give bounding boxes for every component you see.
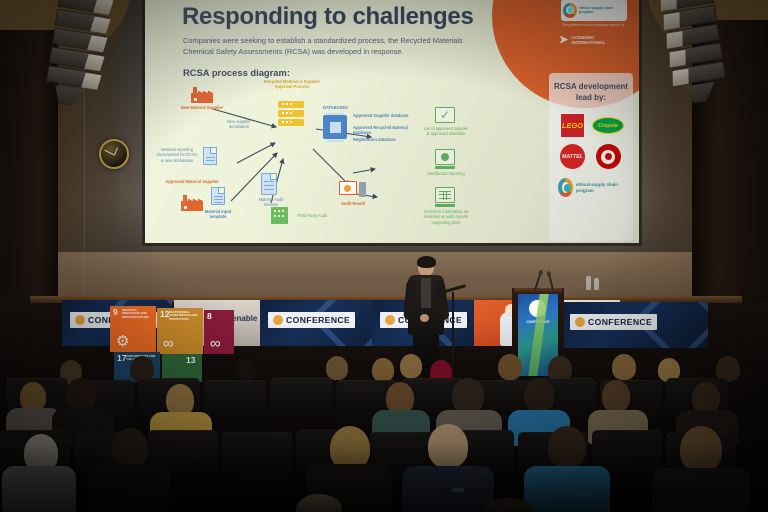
podium-banner-text: CONFERENCE xyxy=(521,320,555,324)
chevron-right-icon: ➤ xyxy=(559,35,570,46)
water-bottle xyxy=(594,278,599,290)
conference-mark-icon xyxy=(273,315,283,325)
sdg-block: 9 INDUSTRY, INNOVATION AND INFRASTRUCTUR… xyxy=(110,306,156,352)
audience-seat xyxy=(204,380,266,422)
conference-photo: ethical supply chain program The preferr… xyxy=(0,0,768,512)
document-icon xyxy=(203,147,217,165)
audience-shoulders xyxy=(2,466,76,512)
conference-banner: CONFERENCE xyxy=(562,302,708,348)
database-item: Approved Supplier database xyxy=(353,113,413,118)
podium-logo-icon xyxy=(529,300,546,317)
database-item: Approved Recycled Material database xyxy=(353,125,413,136)
conference-tag: CONFERENCE xyxy=(570,314,657,330)
audience-shoulders xyxy=(402,466,494,512)
sdg-block: 12 RESPONSIBLE CONSUMPTION AND PRODUCTIO… xyxy=(157,308,203,354)
esc-ring-icon xyxy=(558,178,573,197)
lego-logo: LEGO xyxy=(560,113,585,138)
node-label: Material Audit Review xyxy=(253,197,289,208)
audience-head xyxy=(236,358,256,380)
node-label: New Material Supplier xyxy=(171,105,233,110)
audience-head xyxy=(612,354,636,380)
node-label: Access to information on materials & aud… xyxy=(421,209,471,225)
sdg-icon: ⚙ xyxy=(116,334,129,349)
audience-head xyxy=(524,378,554,412)
slide-section-label: RCSA process diagram: xyxy=(183,67,290,78)
document-icon xyxy=(211,187,225,205)
node-label: List of approved supplier & approved mat… xyxy=(423,126,469,137)
presentation-slide: ethical supply chain program The preferr… xyxy=(145,0,639,243)
server-icon xyxy=(278,101,304,126)
node-label: Approved Material Supplier xyxy=(163,179,221,184)
computer-icon xyxy=(339,181,366,199)
chip-icon xyxy=(323,115,347,139)
audience-head xyxy=(66,378,96,412)
sdg-title: RESPONSIBLE CONSUMPTION AND PRODUCTION xyxy=(169,311,199,321)
audience-head xyxy=(548,426,586,468)
audience-head xyxy=(602,380,630,412)
enable-banner-text: enable xyxy=(232,314,257,323)
esc-logo-text: ethical supply chain program xyxy=(579,6,625,15)
partner-note: The preferred social compliance partner … xyxy=(561,23,625,27)
factory-icon xyxy=(191,87,213,103)
audience-head xyxy=(452,378,484,414)
presenter xyxy=(404,258,448,368)
audience xyxy=(0,356,768,512)
rcsa-development-panel: RCSA development lead by: LEGO Crayola M… xyxy=(549,73,633,241)
presenter-hand xyxy=(420,314,429,322)
esc-ring-icon xyxy=(563,3,577,18)
pie-chart-icon xyxy=(435,149,455,165)
slide-subtitle: Companies were seeking to establish a st… xyxy=(183,35,483,58)
conference-label: CONFERENCE xyxy=(588,317,652,327)
rcsa-panel-heading: RCSA development lead by: xyxy=(549,82,633,104)
audience-head xyxy=(326,356,348,380)
monitor-stand xyxy=(435,204,455,207)
audience-head xyxy=(372,358,394,382)
lanyard-badge xyxy=(452,488,464,492)
node-label: Recycled Material & Supplier Approval Pr… xyxy=(263,79,321,90)
conference-tag: CONFERENCE xyxy=(268,312,355,328)
brand-logo-grid: LEGO Crayola MATTEL ethical supply chain… xyxy=(549,113,633,201)
database-item: Registration database xyxy=(353,137,413,142)
slide-title: Responding to challenges xyxy=(182,3,474,31)
sdg-number: 8 xyxy=(207,311,212,321)
node-label: New supplier declaration xyxy=(217,119,261,130)
checklist-icon xyxy=(261,173,277,195)
audience-head xyxy=(428,424,468,468)
presenter-hair xyxy=(417,256,436,268)
brand-cell: Crayola xyxy=(592,113,624,139)
wall-clock xyxy=(99,139,129,169)
audience-shoulders xyxy=(88,464,170,512)
audience-seat xyxy=(270,378,332,420)
audience-head xyxy=(400,354,422,378)
ethical-supply-chain-logo: ethical supply chain program xyxy=(561,0,627,21)
target-logo xyxy=(596,144,621,169)
presenter-shirt xyxy=(421,278,431,308)
audience-shoulders xyxy=(652,468,750,512)
node-label: Material reporting documented for RCSA &… xyxy=(155,147,199,163)
audience-head xyxy=(112,428,148,468)
building-icon xyxy=(271,207,288,224)
conference-mark-icon xyxy=(385,315,395,325)
esc-program-text: ethical supply chain program xyxy=(576,182,624,193)
audience-shoulders xyxy=(524,466,610,512)
node-label: Dashboard reporting xyxy=(425,171,467,176)
brand-cell xyxy=(592,144,624,170)
audience-head xyxy=(498,354,522,380)
sdg-block: 8 ∞ xyxy=(204,310,234,354)
licensing-international-text: LICENSING INTERNATIONAL xyxy=(572,35,627,46)
monitor-stand xyxy=(435,166,455,169)
brand-cell: LEGO xyxy=(558,113,587,139)
conference-label: CONFERENCE xyxy=(286,315,350,325)
clock-hand-minute xyxy=(104,150,114,156)
sdg-icon: ∞ xyxy=(163,336,174,351)
table-grid-icon xyxy=(435,187,455,203)
esc-program-logo: ethical supply chain program xyxy=(558,175,624,201)
sdg-title: INDUSTRY, INNOVATION AND INFRASTRUCTURE xyxy=(122,309,152,319)
rcsa-process-diagram: New Material Supplier New supplier decla… xyxy=(153,81,553,241)
licensing-international-logo: ➤ LICENSING INTERNATIONAL xyxy=(559,33,627,47)
audience-seat xyxy=(222,432,292,480)
check-box-icon: ✓ xyxy=(435,107,455,123)
sdg-icon: ∞ xyxy=(210,336,221,351)
water-bottle xyxy=(586,276,591,290)
brand-cell: MATTEL xyxy=(558,144,587,170)
conference-mark-icon xyxy=(75,315,85,325)
conference-mark-icon xyxy=(575,317,585,327)
databases-label: DATABASES xyxy=(323,105,359,110)
node-label: Audit Result xyxy=(335,201,371,206)
node-label: Material input template xyxy=(199,209,237,220)
crayola-logo: Crayola xyxy=(592,117,624,134)
projection-screen: ethical supply chain program The preferr… xyxy=(142,0,642,246)
node-label: Third Party Audit xyxy=(291,213,333,218)
mattel-logo: MATTEL xyxy=(560,144,585,169)
sdg-number: 9 xyxy=(113,307,118,317)
audience-head xyxy=(680,426,722,472)
